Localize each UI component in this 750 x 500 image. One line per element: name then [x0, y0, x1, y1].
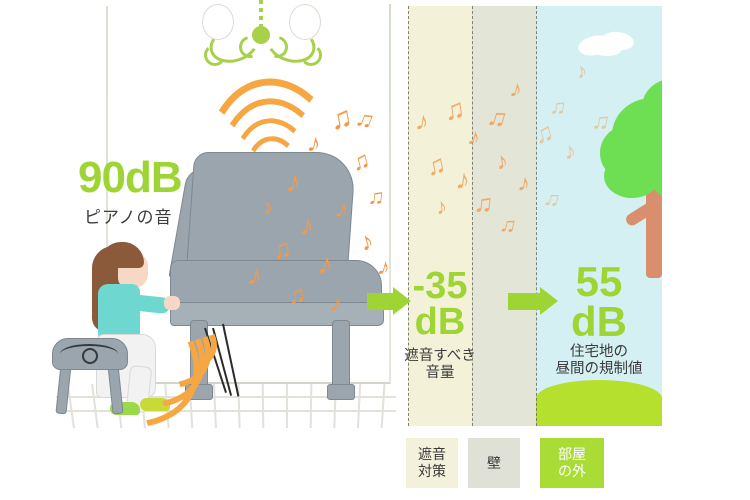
insulation-db-value: -35 dB: [408, 268, 472, 340]
music-notes-room: ♪♫♪♫♪♪♫♪♫♪♪♫♪♫♪♪: [0, 0, 410, 430]
legend-item-outside[interactable]: 部屋 の外: [540, 438, 604, 488]
arrow-shaft: [367, 293, 393, 310]
insulation-db-unit: dB: [408, 304, 472, 340]
music-note-icon: ♫: [473, 189, 495, 217]
music-note-icon: ♫: [542, 186, 563, 211]
music-note-icon: ♪: [494, 149, 510, 175]
music-note-icon: ♪: [375, 255, 393, 281]
music-note-icon: ♫: [328, 102, 355, 135]
arrow-to-insulation: [367, 287, 411, 315]
music-note-icon: ♫: [498, 213, 519, 238]
outside-caption: 住宅地の 昼間の規制値: [540, 344, 658, 379]
music-note-icon: ♫: [531, 118, 556, 148]
music-note-icon: ♫: [590, 109, 612, 136]
music-note-icon: ♫: [367, 185, 386, 209]
music-note-icon: ♪: [574, 59, 589, 83]
insulation-caption-line2: 音量: [400, 365, 480, 382]
music-note-icon: ♪: [465, 125, 482, 151]
music-notes-bands: ♪♫♪♫♪♫♪♫♪♫♪♫♪♫♪♫♪♫: [400, 0, 662, 300]
music-note-icon: ♫: [352, 106, 377, 135]
arrow-shaft: [508, 293, 540, 310]
insulation-caption-line1: 遮音すべき: [400, 348, 480, 365]
music-note-icon: ♫: [424, 150, 448, 179]
legend-wall-label: 壁: [487, 455, 501, 472]
music-note-icon: ♪: [259, 195, 276, 219]
legend-insulation-line1: 遮音: [418, 446, 446, 462]
music-note-icon: ♫: [349, 148, 372, 176]
music-note-icon: ♪: [516, 171, 532, 197]
infographic-canvas: 90dB ピアノの音 ♪♫♪♫♪♪♫♪♫♪♪♫♪♫♪♪ ♪♫♪♫♪♫♪♫♪♫♪♫…: [0, 0, 750, 500]
music-note-icon: ♫: [270, 235, 293, 263]
music-note-icon: ♫: [287, 283, 307, 309]
outside-caption-line2: 昼間の規制値: [540, 361, 658, 378]
music-note-icon: ♪: [316, 249, 336, 281]
music-note-icon: ♫: [549, 95, 568, 119]
music-note-icon: ♪: [435, 195, 448, 218]
music-note-icon: ♪: [562, 139, 577, 164]
insulation-caption: 遮音すべき 音量: [400, 348, 480, 383]
music-note-icon: ♪: [284, 167, 303, 199]
legend: 遮音 対策 壁 部屋 の外: [406, 438, 706, 488]
legend-outside-line1: 部屋: [558, 446, 586, 462]
music-note-icon: ♪: [414, 107, 431, 135]
outside-db-value: 55 dB: [540, 262, 658, 342]
outside-caption-line1: 住宅地の: [540, 344, 658, 361]
outside-db-unit: dB: [540, 302, 658, 342]
music-note-icon: ♪: [454, 165, 472, 195]
legend-item-wall[interactable]: 壁: [468, 438, 520, 488]
music-note-icon: ♪: [305, 129, 324, 157]
legend-outside-line2: の外: [558, 463, 586, 479]
music-note-icon: ♪: [508, 77, 525, 103]
outside-ground: [536, 380, 662, 426]
legend-item-insulation[interactable]: 遮音 対策: [406, 438, 458, 488]
music-note-icon: ♪: [357, 227, 377, 256]
music-note-icon: ♪: [245, 261, 265, 291]
music-note-icon: ♫: [442, 95, 467, 126]
music-note-icon: ♫: [485, 102, 511, 132]
music-note-icon: ♪: [299, 211, 316, 240]
music-note-icon: ♪: [327, 289, 346, 317]
music-note-icon: ♪: [332, 195, 352, 224]
legend-insulation-line2: 対策: [418, 463, 446, 479]
